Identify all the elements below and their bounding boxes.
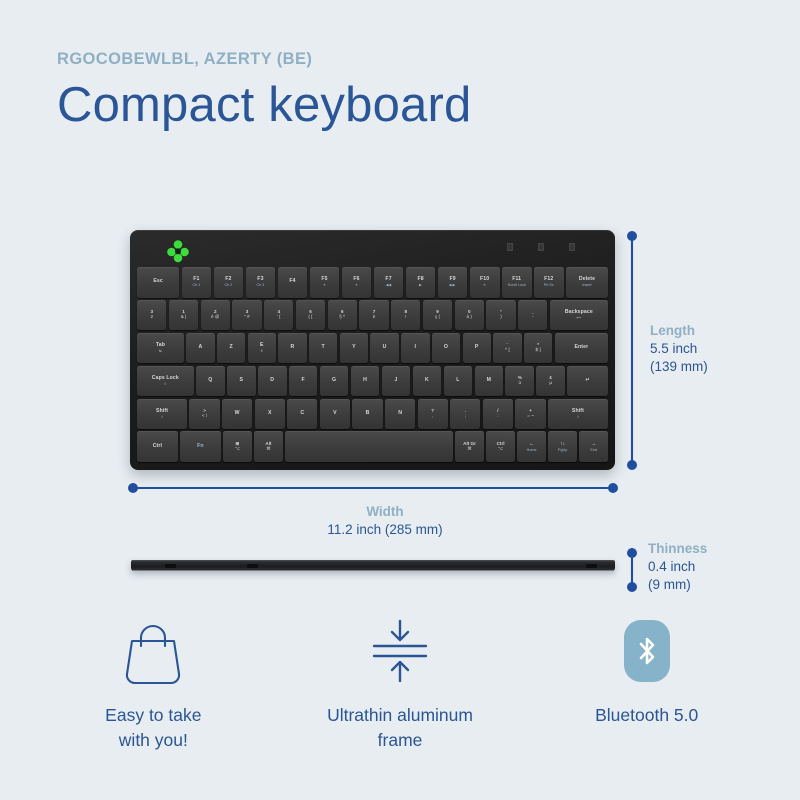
key-alt[interactable]: Alt⌘ <box>254 431 283 462</box>
width-label-name: Width <box>195 503 575 521</box>
key-f7[interactable]: F7◀◀ <box>374 267 404 298</box>
thinness-label-mm: (9 mm) <box>648 576 778 594</box>
key-f8[interactable]: F8▶ <box>406 267 436 298</box>
key-matrix: EscF1Ch.1F2Ch.2F3Ch.3F4F5☀F6☀F7◀◀F8▶F9▶▶… <box>137 267 608 462</box>
key-f5[interactable]: F5☀ <box>310 267 340 298</box>
led-indicator <box>538 243 544 251</box>
keyboard-side-view <box>131 560 615 574</box>
width-label-value: 11.2 inch (285 mm) <box>195 521 575 539</box>
status-led-group <box>507 243 575 251</box>
feature-portability: Easy to takewith you! <box>30 615 277 753</box>
key-s[interactable]: S <box>227 366 256 397</box>
key-key[interactable]: ⊞⌥ <box>223 431 252 462</box>
key-key[interactable]: _- <box>518 300 547 331</box>
key-backspace[interactable]: Backspace⟵ <box>550 300 608 331</box>
key-ctrl[interactable]: Ctrl⌥ <box>486 431 515 462</box>
key-f9[interactable]: F9▶▶ <box>438 267 468 298</box>
key-3[interactable]: 3" # <box>232 300 261 331</box>
key-key[interactable]: .; <box>450 399 480 430</box>
key-w[interactable]: W <box>222 399 252 430</box>
key-u[interactable]: U <box>370 333 398 364</box>
key-y[interactable]: Y <box>340 333 368 364</box>
key-7[interactable]: 7è <box>359 300 388 331</box>
length-dimension-endpoint <box>627 460 637 470</box>
ultrathin-icon <box>366 615 434 687</box>
keyboard-top-view: EscF1Ch.1F2Ch.2F3Ch.3F4F5☀F6☀F7◀◀F8▶F9▶▶… <box>130 230 615 470</box>
key-key[interactable]: °) <box>486 300 515 331</box>
key-f2[interactable]: F2Ch.2 <box>214 267 244 298</box>
key-4[interactable]: 4' { <box>264 300 293 331</box>
key-t[interactable]: T <box>309 333 337 364</box>
key-z[interactable]: Z <box>217 333 245 364</box>
led-indicator <box>569 243 575 251</box>
key-row-number-row: 321& |2é @3" #4' {5( [6§ ^7è8!9ç (0à )°)… <box>137 300 608 331</box>
width-dimension-endpoint <box>608 483 618 493</box>
key-esc[interactable]: Esc <box>137 267 179 298</box>
key-f3[interactable]: F3Ch.3 <box>246 267 276 298</box>
page-title: Compact keyboard <box>57 80 471 131</box>
key-key[interactable]: ¨^ [ <box>493 333 521 364</box>
feature-bluetooth-label: Bluetooth 5.0 <box>595 703 698 728</box>
rgo-logo-icon <box>165 239 195 263</box>
feature-bluetooth: Bluetooth 5.0 <box>523 615 770 753</box>
key-shift[interactable]: Shift⇧ <box>137 399 187 430</box>
key-key[interactable]: ←Home <box>517 431 546 462</box>
bluetooth-icon-wrapper <box>624 615 670 687</box>
width-dimension-endpoint <box>128 483 138 493</box>
key-g[interactable]: G <box>320 366 349 397</box>
key-b[interactable]: B <box>352 399 382 430</box>
key-h[interactable]: H <box>351 366 380 397</box>
keyboard-foot <box>586 564 597 568</box>
key-f11[interactable]: F11Scroll Lock <box>502 267 532 298</box>
key-key[interactable]: *$ ] <box>524 333 552 364</box>
key-2[interactable]: 2é @ <box>201 300 230 331</box>
key-key[interactable]: ↵ <box>567 366 608 397</box>
key-m[interactable]: M <box>475 366 504 397</box>
key-k[interactable]: K <box>413 366 442 397</box>
key-key[interactable]: %ù <box>505 366 534 397</box>
key-f4[interactable]: F4 <box>278 267 308 298</box>
key-f1[interactable]: F1Ch.1 <box>182 267 212 298</box>
feature-ultrathin-label: Ultrathin aluminumframe <box>327 703 473 753</box>
key-i[interactable]: I <box>401 333 429 364</box>
key-f6[interactable]: F6☀ <box>342 267 372 298</box>
key-row-modifier-row: CtrlFn⊞⌥Alt⌘Alt Gr⌘Ctrl⌥←Home↑↓PgUp→End <box>137 431 608 462</box>
width-dimension-label: Width 11.2 inch (285 mm) <box>195 503 575 539</box>
key-6[interactable]: 6§ ^ <box>328 300 357 331</box>
key-row-shift-row: Shift⇧>< \WXCVBN?,.;/:+= ~Shift⇧ <box>137 399 608 430</box>
key-ctrl[interactable]: Ctrl <box>137 431 178 462</box>
key-e[interactable]: E€ <box>248 333 276 364</box>
key-enter[interactable]: Enter <box>555 333 608 364</box>
key-5[interactable]: 5( [ <box>296 300 325 331</box>
key-1[interactable]: 1& | <box>169 300 198 331</box>
key-n[interactable]: N <box>385 399 415 430</box>
feature-ultrathin: Ultrathin aluminumframe <box>277 615 524 753</box>
key-f[interactable]: F <box>289 366 318 397</box>
thinness-dimension-label: Thinness 0.4 inch (9 mm) <box>648 540 778 595</box>
length-label-mm: (139 mm) <box>650 358 770 376</box>
feature-row: Easy to takewith you! Ultrathin aluminum… <box>30 615 770 753</box>
keyboard-foot <box>165 564 176 568</box>
key-key[interactable] <box>285 431 453 462</box>
bluetooth-icon <box>624 620 670 682</box>
key-q[interactable]: Q <box>196 366 225 397</box>
key-8[interactable]: 8! <box>391 300 420 331</box>
key-a[interactable]: A <box>186 333 214 364</box>
product-sku: RGOCOBEWLBL, AZERTY (BE) <box>57 50 471 69</box>
key-key[interactable]: >< \ <box>189 399 219 430</box>
key-o[interactable]: O <box>432 333 460 364</box>
key-j[interactable]: J <box>382 366 411 397</box>
keyboard-side-edge <box>133 570 613 572</box>
feature-portability-label: Easy to takewith you! <box>105 703 201 753</box>
thinness-label-inch: 0.4 inch <box>648 558 778 576</box>
key-alt-gr[interactable]: Alt Gr⌘ <box>455 431 484 462</box>
key-key[interactable]: += ~ <box>515 399 545 430</box>
key-9[interactable]: 9ç ( <box>423 300 452 331</box>
length-label-name: Length <box>650 322 770 340</box>
key-key[interactable]: ↑↓PgUp <box>548 431 577 462</box>
key-row-function-row: EscF1Ch.1F2Ch.2F3Ch.3F4F5☀F6☀F7◀◀F8▶F9▶▶… <box>137 267 608 298</box>
length-dimension-endpoint <box>627 231 637 241</box>
key-c[interactable]: C <box>287 399 317 430</box>
keyboard-foot <box>247 564 258 568</box>
length-dimension-label: Length 5.5 inch (139 mm) <box>650 322 770 377</box>
key-fn[interactable]: Fn <box>180 431 221 462</box>
key-key[interactable]: ?, <box>418 399 448 430</box>
key-shift[interactable]: Shift⇧ <box>548 399 608 430</box>
key-0[interactable]: 0à ) <box>455 300 484 331</box>
key-3[interactable]: 32 <box>137 300 166 331</box>
thinness-label-name: Thinness <box>648 540 778 558</box>
led-indicator <box>507 243 513 251</box>
key-p[interactable]: P <box>463 333 491 364</box>
key-d[interactable]: D <box>258 366 287 397</box>
key-key[interactable]: →End <box>579 431 608 462</box>
key-l[interactable]: L <box>444 366 473 397</box>
key-x[interactable]: X <box>255 399 285 430</box>
thinness-dimension-endpoint <box>627 582 637 592</box>
key-key[interactable]: /: <box>483 399 513 430</box>
shopping-bag-icon <box>120 615 186 687</box>
thinness-dimension-endpoint <box>627 548 637 558</box>
key-f12[interactable]: F12Prt Sc <box>534 267 564 298</box>
key-f10[interactable]: F10✕ <box>470 267 500 298</box>
key-v[interactable]: V <box>320 399 350 430</box>
key-tab[interactable]: Tab↹ <box>137 333 184 364</box>
page-header: RGOCOBEWLBL, AZERTY (BE) Compact keyboar… <box>57 50 471 131</box>
key-delete[interactable]: DeleteInsert <box>566 267 608 298</box>
key-r[interactable]: R <box>278 333 306 364</box>
key-row-home-row: Caps Lock⇪QSDFGHJKLM%ù£µ↵ <box>137 366 608 397</box>
key-key[interactable]: £µ <box>536 366 565 397</box>
length-label-inch: 5.5 inch <box>650 340 770 358</box>
key-caps-lock[interactable]: Caps Lock⇪ <box>137 366 194 397</box>
key-row-tab-row: Tab↹AZE€RTYUIOP¨^ [*$ ]Enter <box>137 333 608 364</box>
